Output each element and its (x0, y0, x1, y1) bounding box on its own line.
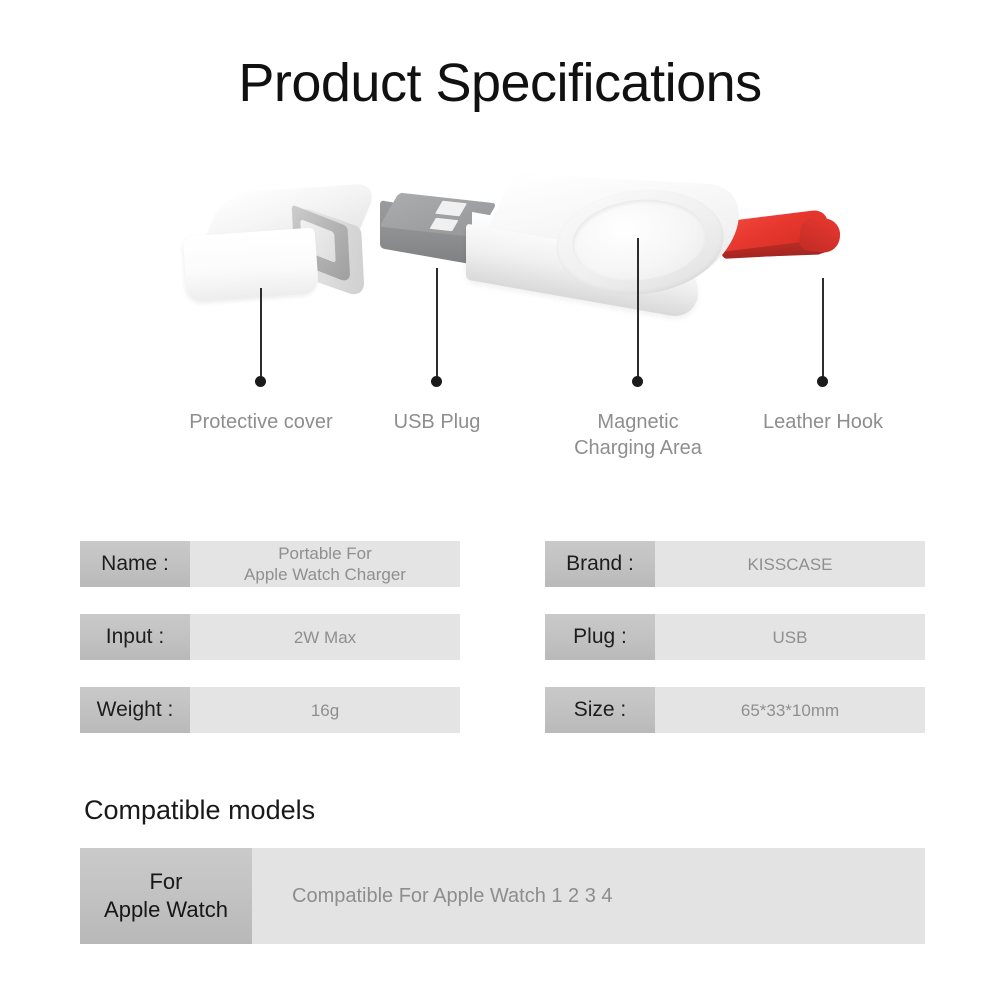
compatible-models-value: Compatible For Apple Watch 1 2 3 4 (252, 848, 925, 944)
spec-value-size: 65*33*10mm (655, 687, 925, 733)
spec-label-input: Input : (80, 614, 190, 660)
spec-value-weight: 16g (190, 687, 460, 733)
spec-row-name: Name : Portable For Apple Watch Charger (80, 541, 460, 587)
spec-value-name: Portable For Apple Watch Charger (190, 541, 460, 587)
spec-label-weight: Weight : (80, 687, 190, 733)
spec-row-size: Size : 65*33*10mm (545, 687, 925, 733)
spec-label-plug: Plug : (545, 614, 655, 660)
spec-label-name: Name : (80, 541, 190, 587)
spec-row-plug: Plug : USB (545, 614, 925, 660)
spec-row-input: Input : 2W Max (80, 614, 460, 660)
spec-row-weight: Weight : 16g (80, 687, 460, 733)
compatible-models-row: For Apple Watch Compatible For Apple Wat… (80, 848, 925, 944)
compatible-models-heading: Compatible models (84, 795, 315, 826)
spec-row-brand: Brand : KISSCASE (545, 541, 925, 587)
spec-value-plug: USB (655, 614, 925, 660)
compatible-models-label: For Apple Watch (80, 848, 252, 944)
spec-value-brand: KISSCASE (655, 541, 925, 587)
spec-label-size: Size : (545, 687, 655, 733)
spec-value-input: 2W Max (190, 614, 460, 660)
spec-label-brand: Brand : (545, 541, 655, 587)
